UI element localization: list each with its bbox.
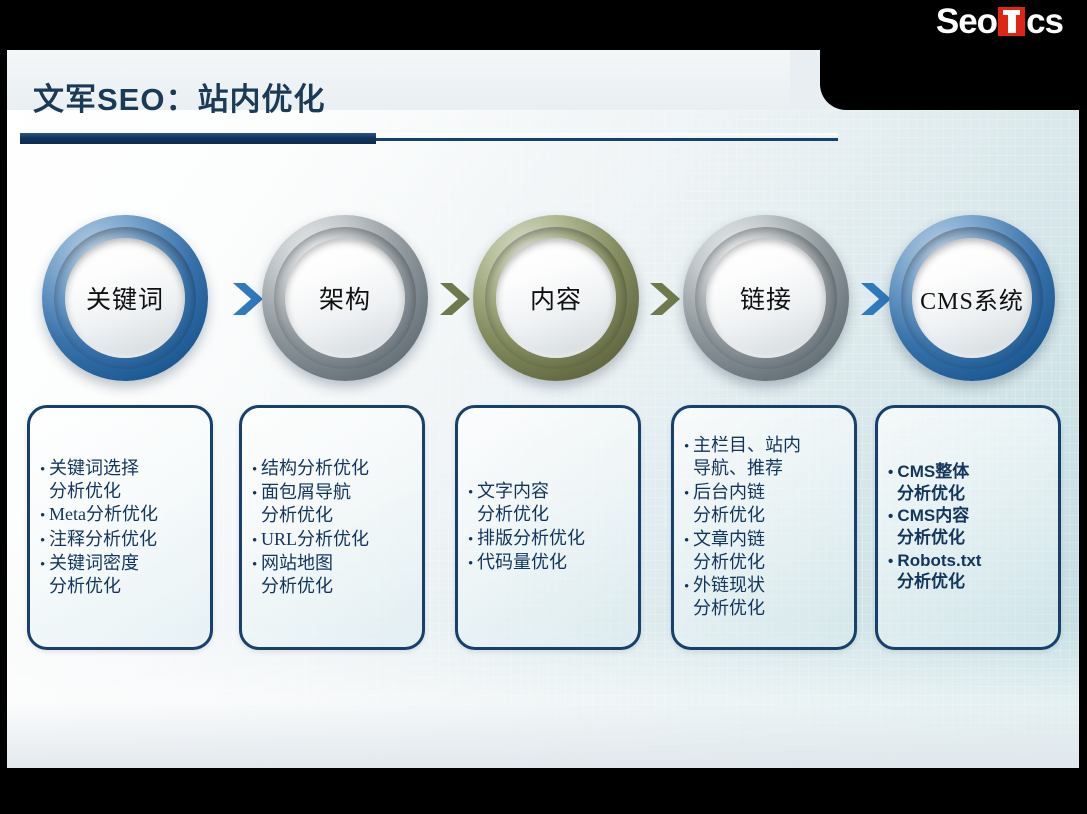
bullet-list: 文字内容 分析优化 排版分析优化 代码量优化 — [458, 480, 638, 575]
list-item: 网站地图 分析优化 — [252, 552, 416, 598]
list-item: URL分析优化 — [252, 528, 416, 551]
bullet-list: 主栏目、站内 导航、推荐 后台内链 分析优化 文章内链 分析优化 外链现状 分析… — [674, 434, 854, 622]
seotics-logo: Seocs — [936, 4, 1063, 39]
ring-inner: 链接 — [706, 238, 826, 358]
architecture-box[interactable]: 结构分析优化 面包屑导航 分析优化 URL分析优化 网站地图 分析优化 — [239, 405, 425, 650]
flow-node-cms[interactable]: CMS系统 — [889, 215, 1055, 381]
flow-node-keyword[interactable]: 关键词 — [42, 215, 208, 381]
keyword-box[interactable]: 关键词选择 分析优化 Meta分析优化 注释分析优化 关键词密度 分析优化 — [27, 405, 213, 650]
flow-node-link[interactable]: 链接 — [683, 215, 849, 381]
list-item: 结构分析优化 — [252, 457, 416, 480]
list-item: Robots.txt 分析优化 — [888, 550, 1052, 593]
logo-text-before: Seo — [936, 4, 997, 39]
list-item: 外链现状 分析优化 — [684, 574, 848, 620]
cms-box[interactable]: CMS整体 分析优化 CMS内容 分析优化 Robots.txt 分析优化 — [875, 405, 1061, 650]
flow-node-label: 链接 — [740, 280, 792, 316]
flow-node-architecture[interactable]: 架构 — [262, 215, 428, 381]
list-item: CMS整体 分析优化 — [888, 461, 1052, 504]
title-rule-thin — [376, 138, 838, 141]
content-box[interactable]: 文字内容 分析优化 排版分析优化 代码量优化 — [455, 405, 641, 650]
list-item: 面包屑导航 分析优化 — [252, 481, 416, 527]
logo-text-after: cs — [1026, 4, 1063, 39]
page-title: 文军SEO：站内优化 — [33, 74, 325, 119]
list-item: 关键词选择 分析优化 — [40, 457, 204, 503]
detail-boxes: 关键词选择 分析优化 Meta分析优化 注释分析优化 关键词密度 分析优化 结构… — [7, 405, 1079, 655]
ring-inner: CMS系统 — [912, 238, 1032, 358]
top-black-band — [0, 0, 1087, 50]
title-rule-gloss — [376, 133, 838, 137]
ring-inner: 关键词 — [65, 238, 185, 358]
flow-node-label: 架构 — [319, 280, 371, 316]
bottom-black-band — [0, 768, 1087, 814]
link-box[interactable]: 主栏目、站内 导航、推荐 后台内链 分析优化 文章内链 分析优化 外链现状 分析… — [671, 405, 857, 650]
flow-node-content[interactable]: 内容 — [473, 215, 639, 381]
flow-node-label: 关键词 — [86, 280, 164, 316]
list-item: 文章内链 分析优化 — [684, 528, 848, 574]
ring-inner: 内容 — [496, 238, 616, 358]
list-item: 代码量优化 — [468, 551, 632, 574]
flow-node-label: 内容 — [530, 280, 582, 316]
bullet-list: 结构分析优化 面包屑导航 分析优化 URL分析优化 网站地图 分析优化 — [242, 457, 422, 599]
title-rule-thick — [20, 133, 376, 144]
list-item: 主栏目、站内 导航、推荐 — [684, 434, 848, 480]
list-item: 后台内链 分析优化 — [684, 481, 848, 527]
list-item: CMS内容 分析优化 — [888, 505, 1052, 548]
bullet-list: 关键词选择 分析优化 Meta分析优化 注释分析优化 关键词密度 分析优化 — [30, 457, 210, 599]
left-black-border — [0, 0, 7, 814]
bullet-list: CMS整体 分析优化 CMS内容 分析优化 Robots.txt 分析优化 — [878, 461, 1058, 593]
list-item: Meta分析优化 — [40, 503, 204, 526]
ring-inner: 架构 — [285, 238, 405, 358]
list-item: 排版分析优化 — [468, 527, 632, 550]
list-item: 文字内容 分析优化 — [468, 480, 632, 526]
slide-root: Seocs 文军SEO：站内优化 关键词 架构 内容 — [0, 0, 1087, 814]
list-item: 注释分析优化 — [40, 528, 204, 551]
flow-node-label: CMS系统 — [920, 281, 1024, 316]
list-item: 关键词密度 分析优化 — [40, 552, 204, 598]
flow-diagram: 关键词 架构 内容 链接 — [7, 215, 1079, 385]
logo-mark-icon — [998, 7, 1025, 36]
right-black-border — [1079, 0, 1087, 814]
